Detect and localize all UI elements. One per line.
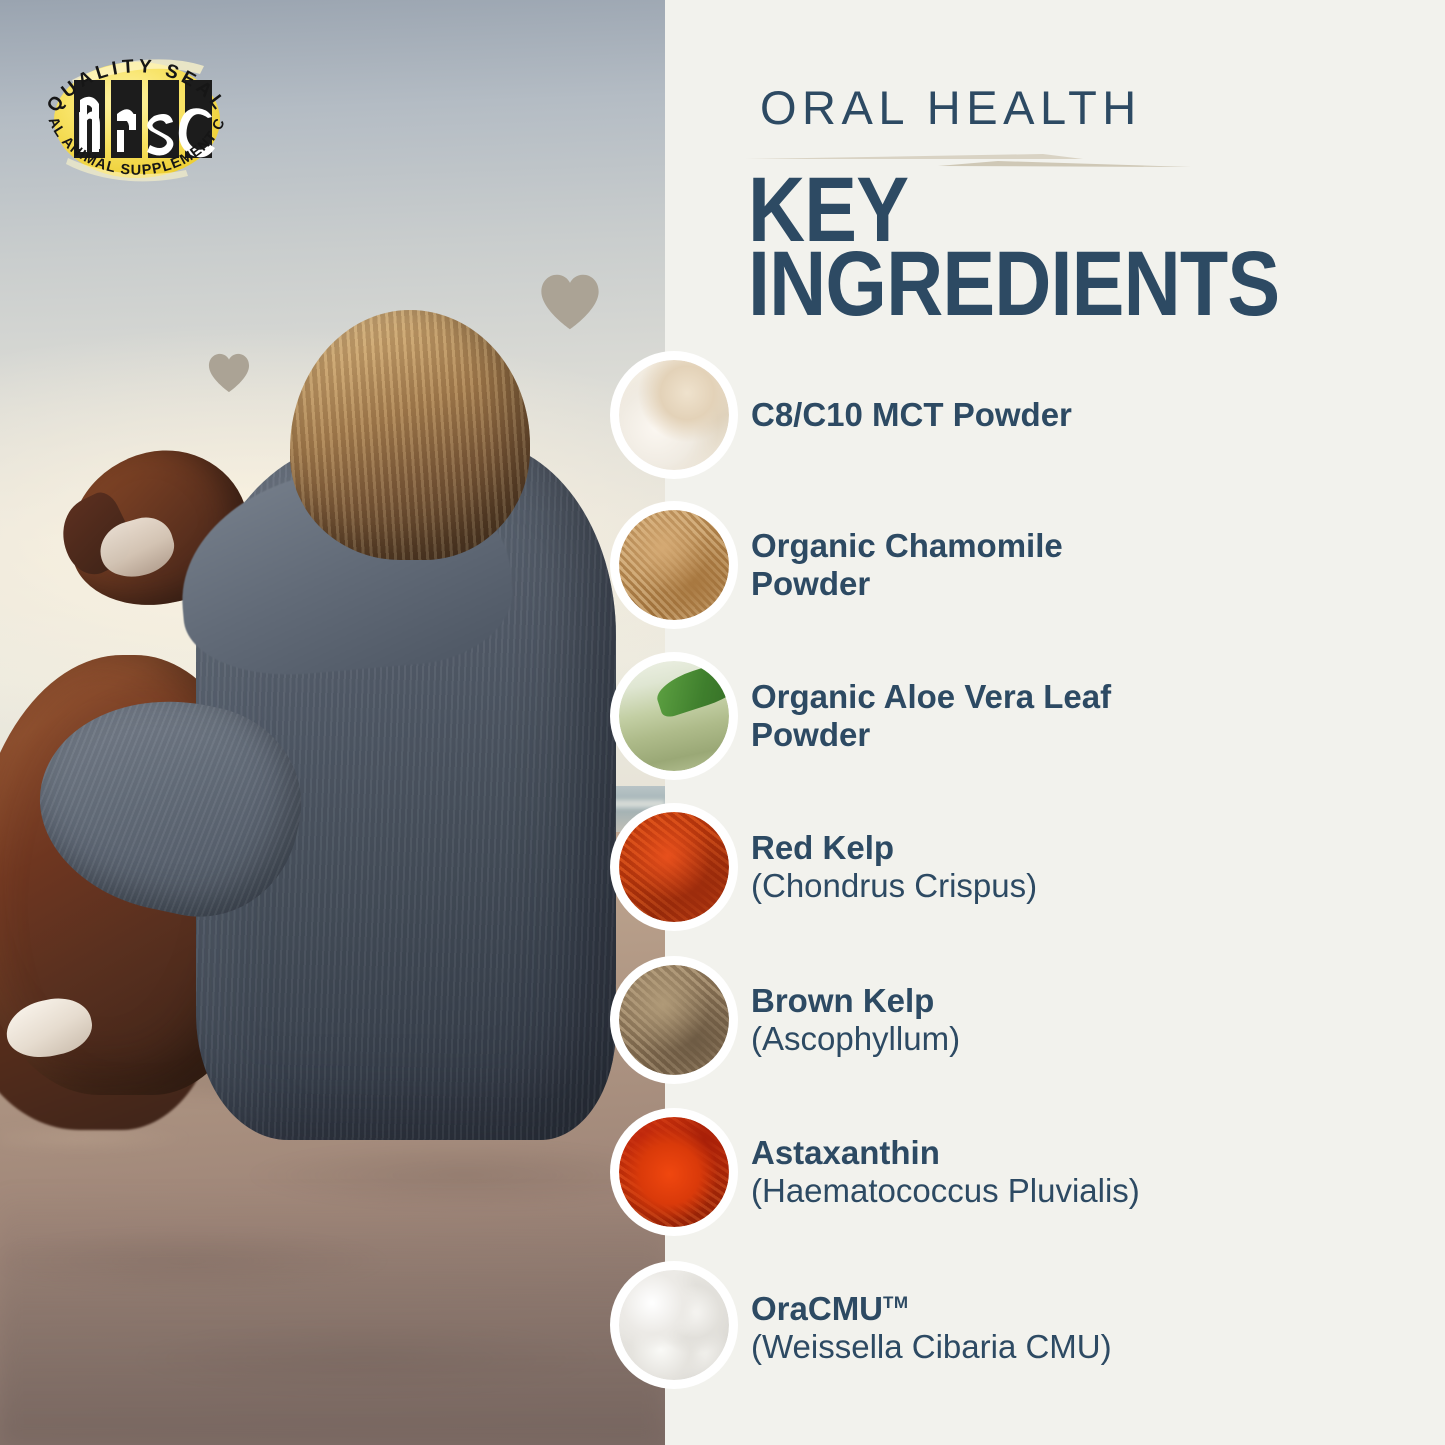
foreground-sand-shadow <box>0 1190 665 1445</box>
ingredient-name: C8/C10 MCT Powder <box>751 396 1072 434</box>
ingredient-swatch-organic-aloe-vera-leaf-powder <box>619 661 729 771</box>
ingredient-swatch-oracmu <box>619 1270 729 1380</box>
ingredient-row: OraCMUTM(Weissella Cibaria CMU) <box>665 1255 1445 1395</box>
ingredient-swatch-astaxanthin <box>619 1117 729 1227</box>
ingredient-name: Astaxanthin <box>751 1134 1140 1172</box>
ingredient-label: Organic Chamomile Powder <box>751 527 1151 603</box>
ingredient-row: Organic Aloe Vera Leaf Powder <box>665 646 1445 786</box>
heart-small-icon <box>206 352 252 394</box>
ingredient-scientific-name: (Chondrus Crispus) <box>751 867 1037 905</box>
ingredient-scientific-name: (Ascophyllum) <box>751 1020 960 1058</box>
ingredient-row: C8/C10 MCT Powder <box>665 345 1445 485</box>
ingredient-scientific-name: (Haematococcus Pluvialis) <box>751 1172 1140 1210</box>
heart-large-icon <box>537 272 603 332</box>
ingredient-swatch-organic-chamomile-powder <box>619 510 729 620</box>
ingredient-label: C8/C10 MCT Powder <box>751 396 1072 434</box>
ingredient-scientific-name: (Weissella Cibaria CMU) <box>751 1328 1112 1366</box>
red-kelp-powder-icon <box>619 812 729 922</box>
ingredient-swatch-brown-kelp <box>619 965 729 1075</box>
ingredient-row: Brown Kelp(Ascophyllum) <box>665 950 1445 1090</box>
ingredient-swatch-red-kelp <box>619 812 729 922</box>
white-tablets-icon <box>619 1270 729 1380</box>
ingredient-row: Red Kelp(Chondrus Crispus) <box>665 797 1445 937</box>
green-aloe-leaf-powder-icon <box>619 661 729 771</box>
lifestyle-photo: n QUALITY SEAL NATIONAL ANIMAL SUPPLEM <box>0 0 665 1445</box>
ingredient-name: Organic Aloe Vera Leaf Powder <box>751 678 1151 754</box>
nasc-quality-seal-badge: n QUALITY SEAL NATIONAL ANIMAL SUPPLEM <box>28 18 246 218</box>
white-mct-powder-icon <box>619 360 729 470</box>
ingredient-row: Astaxanthin(Haematococcus Pluvialis) <box>665 1102 1445 1242</box>
brown-kelp-powder-icon <box>619 965 729 1075</box>
infographic-canvas: n QUALITY SEAL NATIONAL ANIMAL SUPPLEM <box>0 0 1445 1445</box>
content-panel: ORAL HEALTH KEY INGREDIENTS C8/C10 MCT P… <box>665 0 1445 1445</box>
red-astaxanthin-powder-icon <box>619 1117 729 1227</box>
trademark-mark: TM <box>883 1293 909 1312</box>
ingredient-name: Organic Chamomile Powder <box>751 527 1151 603</box>
ingredient-name: Red Kelp <box>751 829 1037 867</box>
ingredient-name: Brown Kelp <box>751 982 960 1020</box>
ingredient-label: Red Kelp(Chondrus Crispus) <box>751 829 1037 905</box>
ingredient-label: Astaxanthin(Haematococcus Pluvialis) <box>751 1134 1140 1210</box>
tan-chamomile-powder-icon <box>619 510 729 620</box>
ingredient-list: C8/C10 MCT PowderOrganic Chamomile Powde… <box>665 0 1445 1445</box>
ingredient-label: Brown Kelp(Ascophyllum) <box>751 982 960 1058</box>
ingredient-label: OraCMUTM(Weissella Cibaria CMU) <box>751 1284 1112 1366</box>
ingredient-name: OraCMUTM <box>751 1284 1112 1328</box>
ingredient-label: Organic Aloe Vera Leaf Powder <box>751 678 1151 754</box>
ingredient-row: Organic Chamomile Powder <box>665 495 1445 635</box>
ingredient-swatch-c8-c10-mct-powder <box>619 360 729 470</box>
